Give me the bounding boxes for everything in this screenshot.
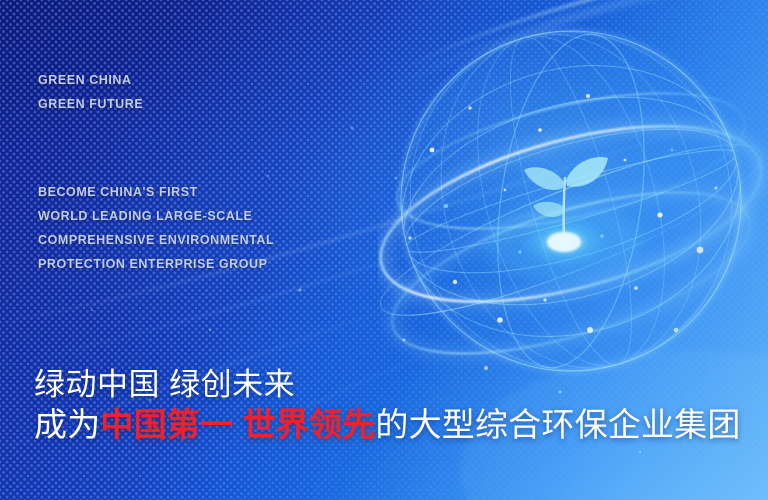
tagline-block: GREEN CHINA GREEN FUTURE <box>38 68 143 116</box>
statement-line-3: COMPREHENSIVE ENVIRONMENTAL <box>38 228 274 252</box>
tagline-line-1: GREEN CHINA <box>38 68 143 92</box>
headline-prefix: 成为 <box>34 406 100 443</box>
statement-line-2: WORLD LEADING LARGE-SCALE <box>38 204 274 228</box>
headline-line-1: 绿动中国 绿创未来 <box>34 365 741 405</box>
headline-highlight: 中国第一 世界领先 <box>100 406 375 443</box>
statement-line-1: BECOME CHINA'S FIRST <box>38 180 274 204</box>
hero-banner: GREEN CHINA GREEN FUTURE BECOME CHINA'S … <box>0 0 768 500</box>
statement-block: BECOME CHINA'S FIRST WORLD LEADING LARGE… <box>38 180 274 276</box>
headline-suffix: 的大型综合环保企业集团 <box>375 406 740 443</box>
headline-line-2: 成为中国第一 世界领先的大型综合环保企业集团 <box>34 405 741 445</box>
tagline-line-2: GREEN FUTURE <box>38 92 143 116</box>
wireframe-globe <box>378 18 768 398</box>
statement-line-4: PROTECTION ENTERPRISE GROUP <box>38 252 274 276</box>
headline-block: 绿动中国 绿创未来 成为中国第一 世界领先的大型综合环保企业集团 <box>34 365 741 445</box>
